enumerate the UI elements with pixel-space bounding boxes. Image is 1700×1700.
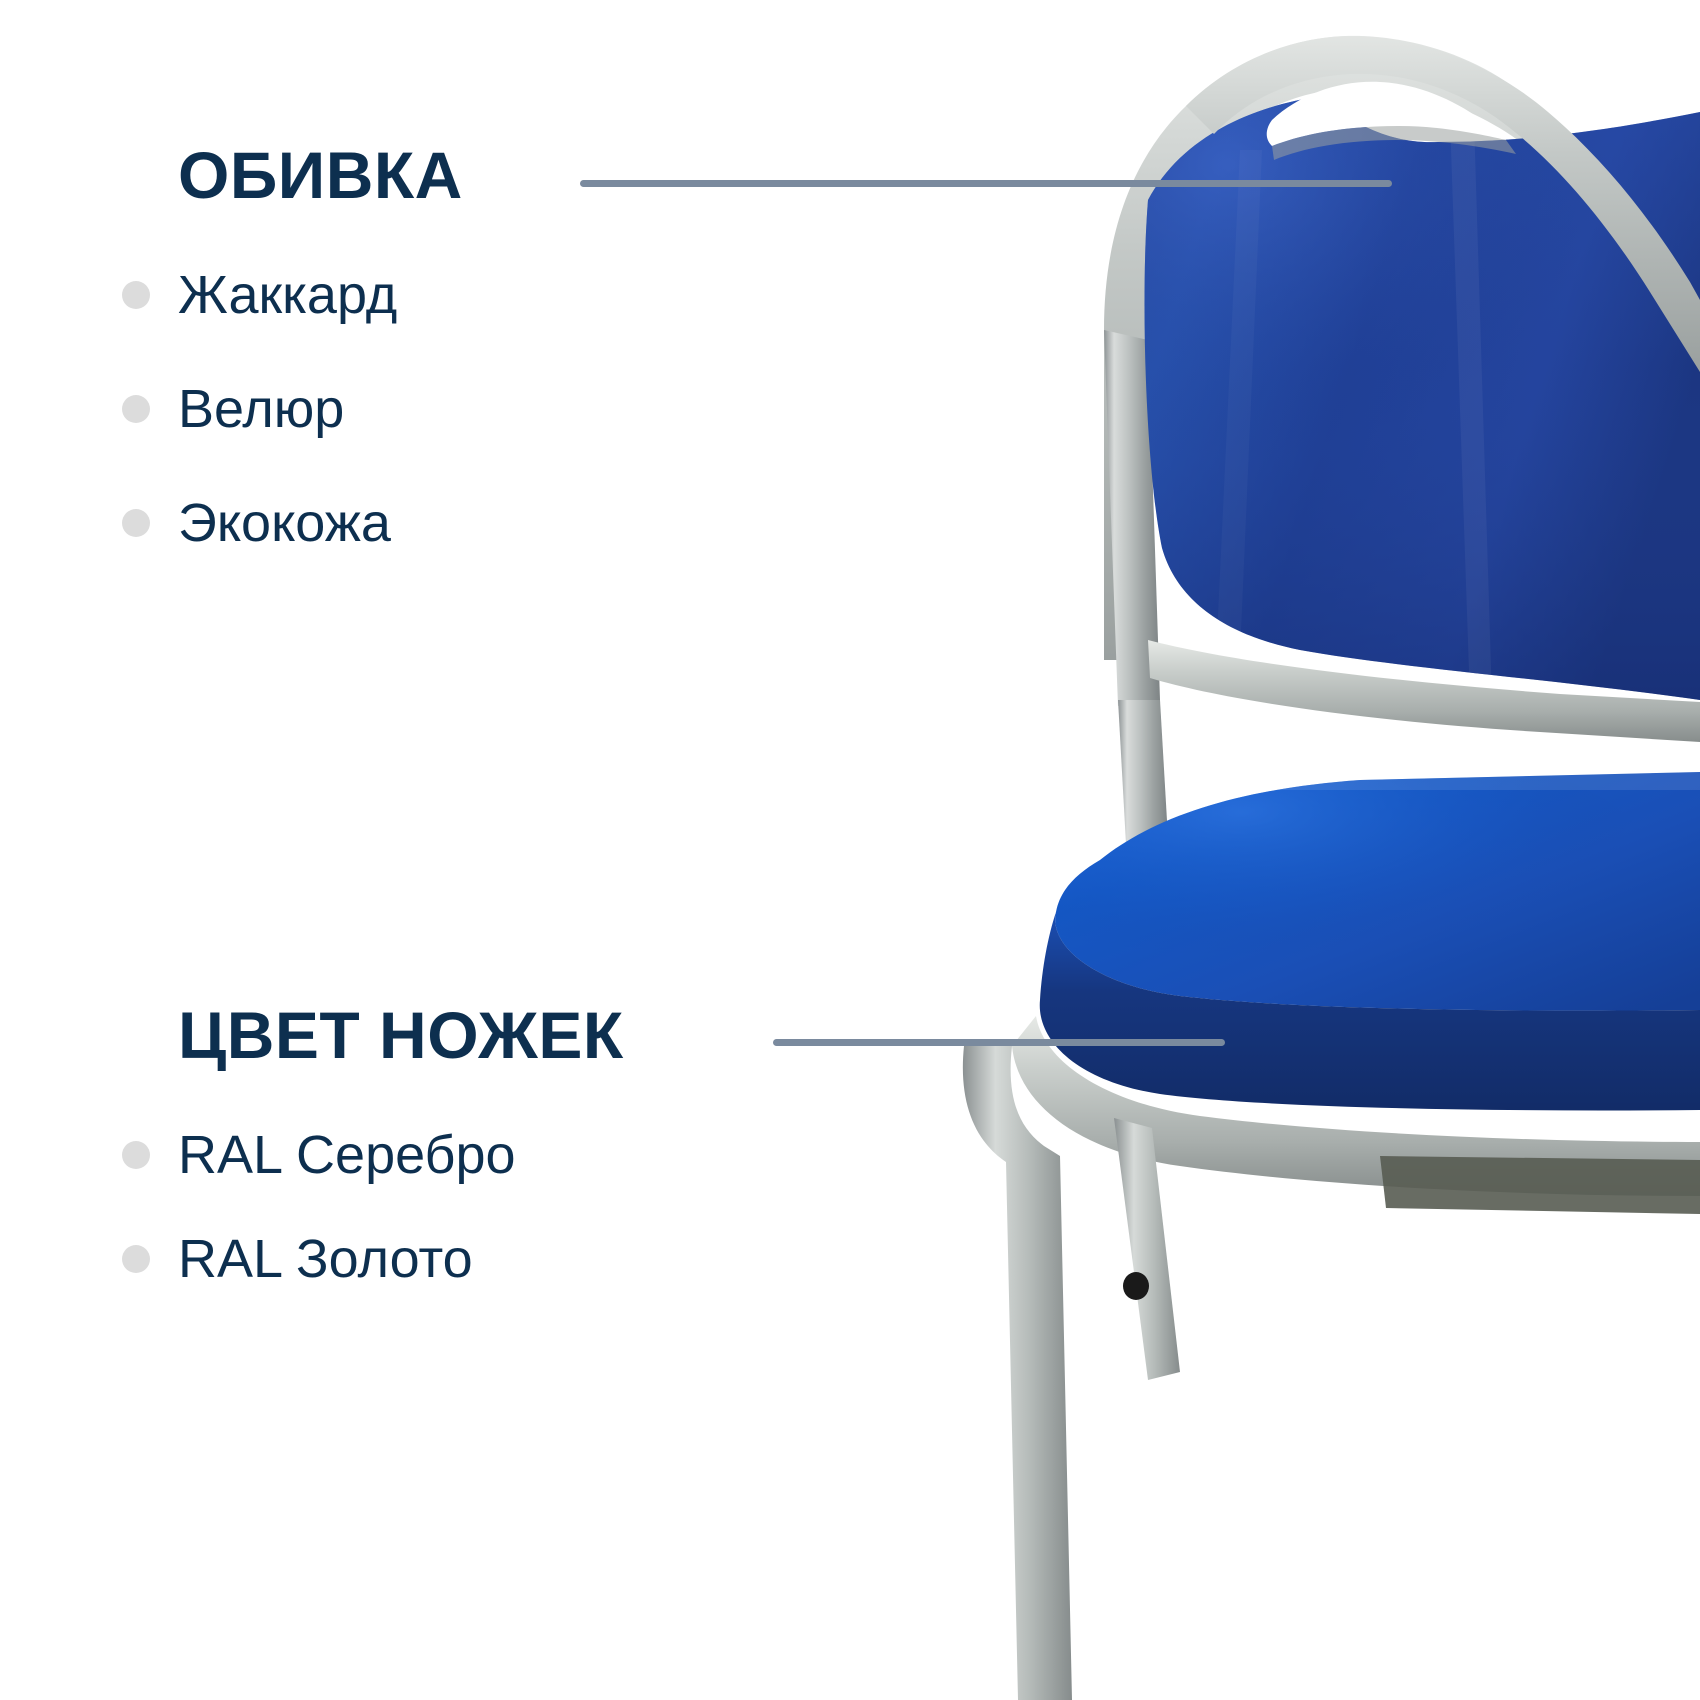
list-item[interactable]: Экокожа <box>178 492 463 554</box>
section-title-leg-color: ЦВЕТ НОЖЕК <box>178 1000 624 1070</box>
list-item[interactable]: RAL Серебро <box>178 1124 624 1186</box>
option-list-leg-color: RAL Серебро RAL Золото <box>178 1124 624 1290</box>
list-item[interactable]: Велюр <box>178 378 463 440</box>
chair-seat-upholstery <box>990 740 1700 1040</box>
bullet-dot-icon <box>122 395 150 423</box>
chair-stacking-bumper <box>1123 1272 1149 1300</box>
chair-back-bottom-rail <box>1148 640 1700 742</box>
leader-line-leg-color <box>773 1039 1225 1046</box>
option-label: RAL Золото <box>178 1230 473 1288</box>
section-leg-color: ЦВЕТ НОЖЕК RAL Серебро RAL Золото <box>178 1000 624 1332</box>
bullet-dot-icon <box>122 509 150 537</box>
chair-bottom-side-rail <box>1380 1156 1700 1214</box>
chair-carry-handle-cutout <box>1267 82 1506 146</box>
section-title-upholstery: ОБИВКА <box>178 140 463 210</box>
chair-back-upholstery <box>1030 30 1700 740</box>
chair-back-left-upright <box>1104 330 1160 706</box>
bullet-dot-icon <box>122 281 150 309</box>
option-list-upholstery: Жаккард Велюр Экокожа <box>178 264 463 554</box>
option-label: RAL Серебро <box>178 1126 516 1184</box>
chair-back-support-post <box>1118 700 1168 844</box>
chair-back-top-rail <box>1186 36 1700 372</box>
option-label: Велюр <box>178 380 344 438</box>
option-label: Жаккард <box>178 266 397 324</box>
list-item[interactable]: RAL Золото <box>178 1228 624 1290</box>
infographic-canvas: ОБИВКА Жаккард Велюр Экокожа ЦВЕТ НОЖЕК … <box>0 0 1700 1700</box>
bullet-dot-icon <box>122 1245 150 1273</box>
list-item[interactable]: Жаккард <box>178 264 463 326</box>
chair-seat-edge <box>1040 912 1700 1110</box>
option-label: Экокожа <box>178 494 391 552</box>
chair-front-left-leg <box>963 1046 1072 1700</box>
section-upholstery: ОБИВКА Жаккард Велюр Экокожа <box>178 140 463 606</box>
chair-back-frame <box>1104 36 1700 660</box>
bullet-dot-icon <box>122 1141 150 1169</box>
chair-rear-leg <box>1114 1118 1180 1380</box>
leader-line-upholstery <box>580 180 1392 187</box>
